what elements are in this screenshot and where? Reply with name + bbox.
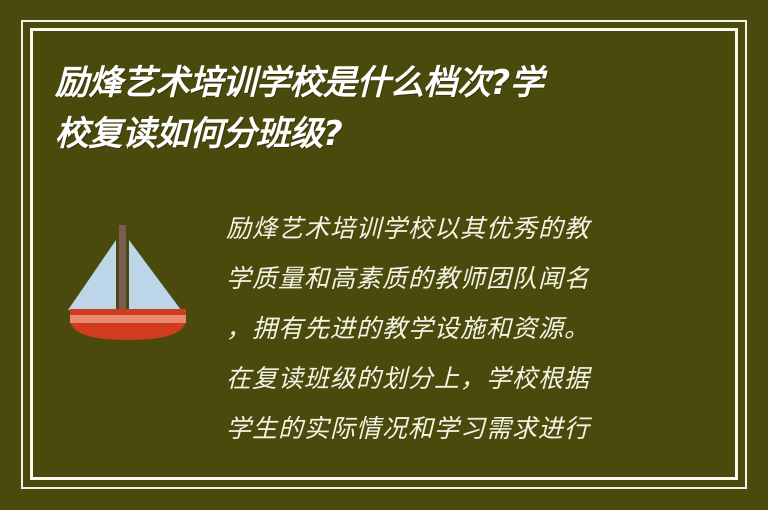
body-line-4: 在复读班级的划分上，学校根据 (226, 354, 654, 404)
sailboat-illustration (60, 214, 200, 344)
sailboat-icon (60, 214, 200, 344)
title-line-2: 校复读如何分班级? (55, 109, 695, 160)
hull-shape (70, 309, 186, 340)
main-sail-shape (129, 240, 184, 314)
body-line-5: 学生的实际情况和学习需求进行 (226, 404, 654, 454)
mast-shape (119, 225, 126, 323)
content-row: 励烽艺术培训学校以其优秀的教 学质量和高素质的教师团队闻名 ，拥有先进的教学设施… (0, 196, 768, 456)
body-line-2: 学质量和高素质的教师团队闻名 (226, 254, 654, 304)
title-line-1: 励烽艺术培训学校是什么档次?学 (55, 58, 695, 109)
body-line-3: ，拥有先进的教学设施和资源。 (226, 304, 654, 354)
page-title: 励烽艺术培训学校是什么档次?学 校复读如何分班级? (55, 58, 695, 160)
fore-sail-shape (68, 240, 116, 314)
hull-stripe-shape (70, 315, 186, 323)
article-body: 励烽艺术培训学校以其优秀的教 学质量和高素质的教师团队闻名 ，拥有先进的教学设施… (226, 204, 654, 454)
body-line-1: 励烽艺术培训学校以其优秀的教 (226, 204, 654, 254)
article-card: 励烽艺术培训学校是什么档次?学 校复读如何分班级? 励烽艺术培训学校以其优秀的教… (0, 0, 768, 510)
